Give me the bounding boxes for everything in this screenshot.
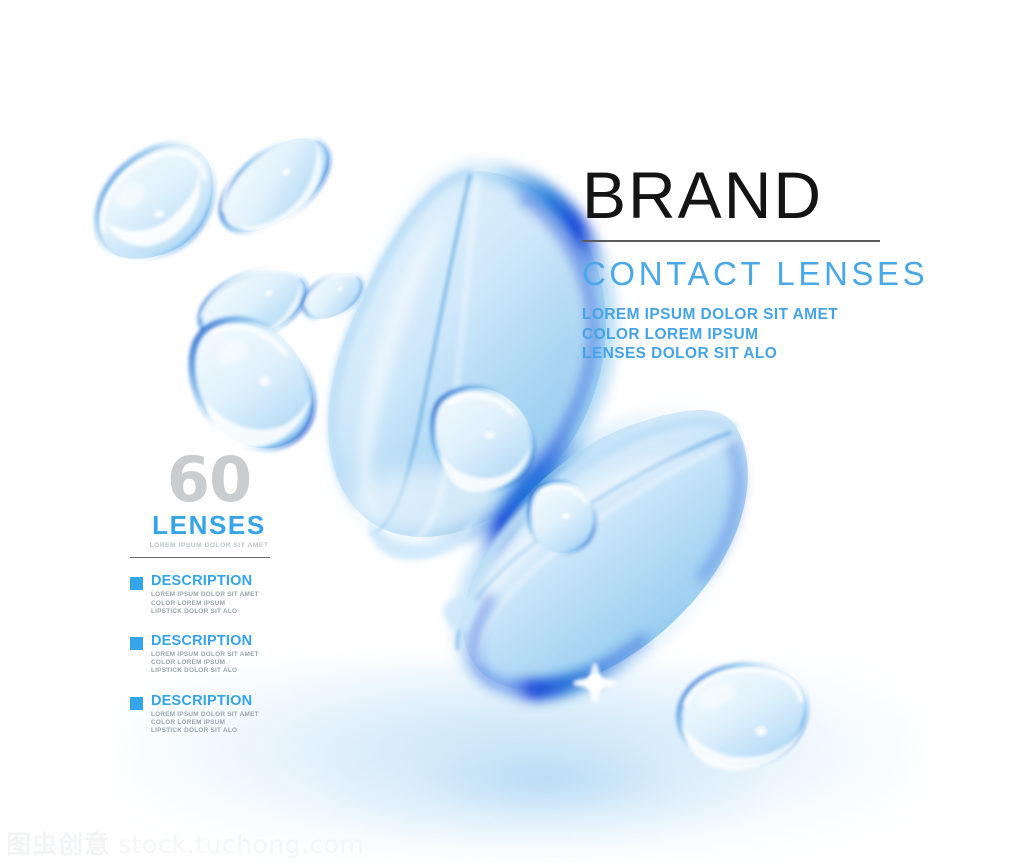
description-title-1: DESCRIPTION <box>151 574 295 589</box>
info-divider <box>130 557 270 558</box>
description-body-3: DESCRIPTION LOREM IPSUM DOLOR SIT AMET C… <box>151 694 295 736</box>
poster-canvas: BRAND CONTACT LENSES LOREM IPSUM DOLOR S… <box>0 0 1023 867</box>
info-block: 60 LENSES LOREM IPSUM DOLOR SIT AMET DES… <box>130 452 295 753</box>
description-list: DESCRIPTION LOREM IPSUM DOLOR SIT AMET C… <box>130 574 295 735</box>
bullet-square-icon <box>130 637 143 650</box>
droplet-top-left <box>97 144 213 259</box>
brand-text-block: BRAND CONTACT LENSES LOREM IPSUM DOLOR S… <box>582 160 942 364</box>
description-line-2-2: COLOR LOREM IPSUM <box>151 659 295 667</box>
ground-glow-inner <box>330 720 760 840</box>
description-line-1-2: COLOR LOREM IPSUM <box>151 600 295 608</box>
description-body-2: DESCRIPTION LOREM IPSUM DOLOR SIT AMET C… <box>151 634 295 676</box>
description-line-3-1: LOREM IPSUM DOLOR SIT AMET <box>151 711 295 719</box>
description-line-1-3: LIPSTICK DOLOR SIT ALO <box>151 608 295 616</box>
description-title-2: DESCRIPTION <box>151 634 295 649</box>
droplet-center <box>433 388 534 493</box>
brand-divider <box>582 240 880 242</box>
droplet-lower-center <box>529 481 595 553</box>
bullet-square-icon <box>130 577 143 590</box>
lens-main-upper <box>328 171 606 560</box>
description-lines-3: LOREM IPSUM DOLOR SIT AMET COLOR LOREM I… <box>151 711 295 736</box>
lens-count-subtitle: LOREM IPSUM DOLOR SIT AMET <box>140 541 278 550</box>
description-line-2-3: LIPSTICK DOLOR SIT ALO <box>151 667 295 675</box>
brand-tagline-3: LENSES DOLOR SIT ALO <box>582 344 942 364</box>
description-item-1: DESCRIPTION LOREM IPSUM DOLOR SIT AMET C… <box>130 574 295 616</box>
description-title-3: DESCRIPTION <box>151 694 295 709</box>
lens-mid-left-upper <box>189 255 316 355</box>
lens-mid-left-tiny <box>296 264 370 329</box>
brand-subtitle: CONTACT LENSES <box>582 256 942 292</box>
sparkle <box>573 663 617 703</box>
watermark-site: stock.tuchong.com <box>118 831 364 859</box>
description-lines-1: LOREM IPSUM DOLOR SIT AMET COLOR LOREM I… <box>151 591 295 616</box>
brand-tagline-list: LOREM IPSUM DOLOR SIT AMET COLOR LOREM I… <box>582 305 942 364</box>
lens-count-label: LENSES <box>142 512 276 539</box>
brand-tagline-1: LOREM IPSUM DOLOR SIT AMET <box>582 305 942 325</box>
description-line-3-3: LIPSTICK DOLOR SIT ALO <box>151 727 295 735</box>
watermark-chinese: 图虫创意 <box>6 831 110 859</box>
lens-count: 60 <box>144 452 274 508</box>
description-line-3-2: COLOR LOREM IPSUM <box>151 719 295 727</box>
lens-top-left-small <box>201 115 346 251</box>
description-line-1-1: LOREM IPSUM DOLOR SIT AMET <box>151 591 295 599</box>
bullet-square-icon <box>130 697 143 710</box>
description-lines-2: LOREM IPSUM DOLOR SIT AMET COLOR LOREM I… <box>151 651 295 676</box>
description-item-3: DESCRIPTION LOREM IPSUM DOLOR SIT AMET C… <box>130 694 295 736</box>
droplet-mid-left <box>192 319 314 448</box>
description-line-2-1: LOREM IPSUM DOLOR SIT AMET <box>151 651 295 659</box>
description-body-1: DESCRIPTION LOREM IPSUM DOLOR SIT AMET C… <box>151 574 295 616</box>
lens-main-lower <box>444 410 748 703</box>
watermark: 图虫创意 stock.tuchong.com <box>6 831 364 859</box>
brand-tagline-2: COLOR LOREM IPSUM <box>582 325 942 345</box>
brand-title: BRAND <box>582 160 942 230</box>
description-item-2: DESCRIPTION LOREM IPSUM DOLOR SIT AMET C… <box>130 634 295 676</box>
droplet-bottom-right <box>679 665 807 770</box>
